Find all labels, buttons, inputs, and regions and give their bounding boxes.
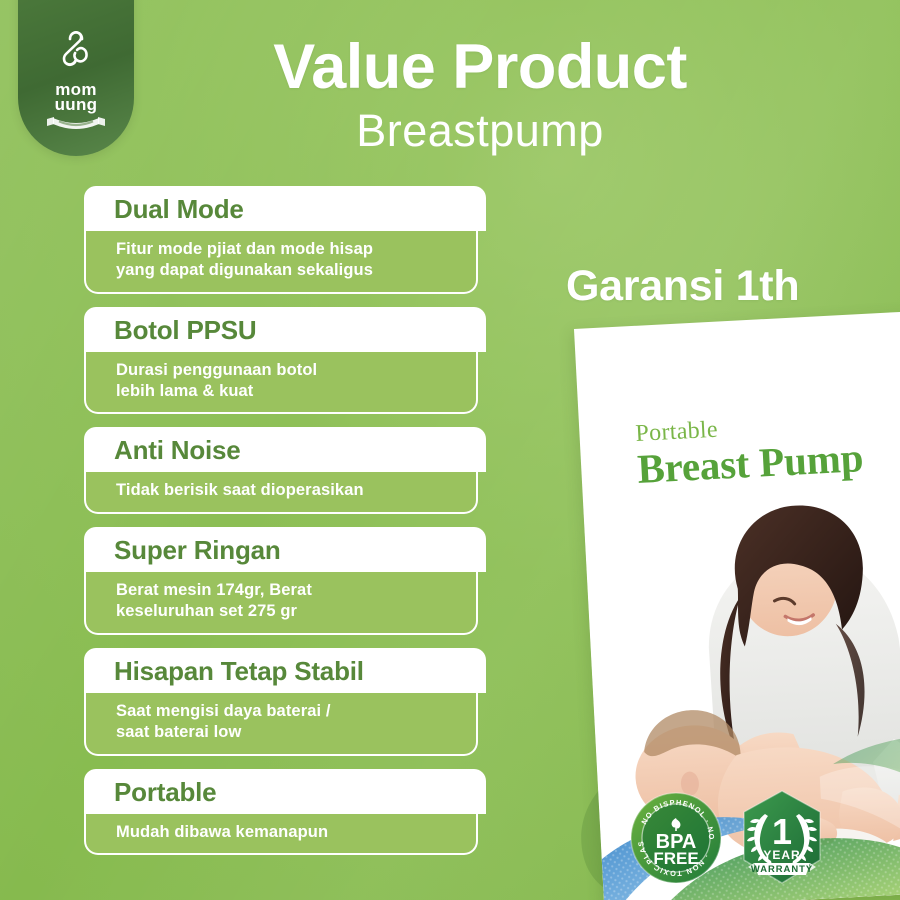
feature-card: Botol PPSU Durasi penggunaan botol lebih…	[84, 307, 486, 415]
page-subtitle: Breastpump	[200, 103, 760, 159]
feature-card: Hisapan Tetap Stabil Saat mengisi daya b…	[84, 648, 486, 756]
feature-card-list: Dual Mode Fitur mode pjiat dan mode hisa…	[84, 186, 486, 855]
feature-description: Saat mengisi daya baterai / saat baterai…	[116, 701, 460, 743]
feature-description: Berat mesin 174gr, Berat keseluruhan set…	[116, 580, 460, 622]
feature-card-body: Fitur mode pjiat dan mode hisap yang dap…	[84, 231, 478, 294]
feature-card-header: Super Ringan	[84, 527, 486, 572]
brand-wordmark: mom uung	[55, 82, 98, 112]
feature-title: Dual Mode	[114, 195, 486, 224]
mom-uung-monogram-icon	[53, 27, 99, 79]
feature-card-header: Hisapan Tetap Stabil	[84, 648, 486, 693]
feature-description: Mudah dibawa kemanapun	[116, 822, 460, 843]
brand-logo-shield: mom uung	[18, 0, 134, 156]
bpa-line2: FREE	[653, 849, 698, 868]
feature-card: Portable Mudah dibawa kemanapun	[84, 769, 486, 856]
feature-title: Portable	[114, 778, 486, 807]
feature-card-header: Dual Mode	[84, 186, 486, 231]
feature-card: Super Ringan Berat mesin 174gr, Berat ke…	[84, 527, 486, 635]
feature-card-body: Saat mengisi daya baterai / saat baterai…	[84, 693, 478, 756]
warranty-period: YEAR	[763, 848, 800, 862]
feature-description: Fitur mode pjiat dan mode hisap yang dap…	[116, 239, 460, 281]
feature-card-body: Tidak berisik saat dioperasikan	[84, 472, 478, 514]
feature-card: Anti Noise Tidak berisik saat dioperasik…	[84, 427, 486, 514]
warranty-ribbon-text: WARRANTY	[751, 863, 813, 874]
feature-card-header: Botol PPSU	[84, 307, 486, 352]
bpa-free-badge-icon: NO BISPHENOL · NO PHTALATES · NON TOXIC …	[628, 790, 724, 886]
feature-description: Durasi penggunaan botol lebih lama & kua…	[116, 360, 460, 402]
package-label-large: Breast Pump	[636, 435, 864, 493]
warranty-badge-icon: 1 YEAR WARRANTY	[732, 788, 832, 888]
feature-card-header: Portable	[84, 769, 486, 814]
feature-card-body: Mudah dibawa kemanapun	[84, 814, 478, 856]
warranty-headline: Garansi 1th	[566, 262, 799, 311]
certification-badges: NO BISPHENOL · NO PHTALATES · NON TOXIC …	[628, 788, 860, 892]
feature-title: Super Ringan	[114, 536, 486, 565]
poster-canvas: mom uung Value Product Breastpump Dual M…	[0, 0, 900, 900]
feature-card-header: Anti Noise	[84, 427, 486, 472]
brand-name-line2: uung	[55, 97, 98, 112]
brand-ribbon-icon	[45, 115, 107, 130]
feature-description: Tidak berisik saat dioperasikan	[116, 480, 460, 501]
page-title: Value Product	[200, 36, 760, 99]
feature-card-body: Durasi penggunaan botol lebih lama & kua…	[84, 352, 478, 415]
feature-card-body: Berat mesin 174gr, Berat keseluruhan set…	[84, 572, 478, 635]
feature-title: Hisapan Tetap Stabil	[114, 657, 486, 686]
warranty-number: 1	[772, 811, 792, 852]
feature-title: Botol PPSU	[114, 316, 486, 345]
headline-block: Value Product Breastpump	[200, 36, 760, 159]
feature-title: Anti Noise	[114, 436, 486, 465]
package-label: Portable Breast Pump	[635, 410, 864, 493]
feature-card: Dual Mode Fitur mode pjiat dan mode hisa…	[84, 186, 486, 294]
